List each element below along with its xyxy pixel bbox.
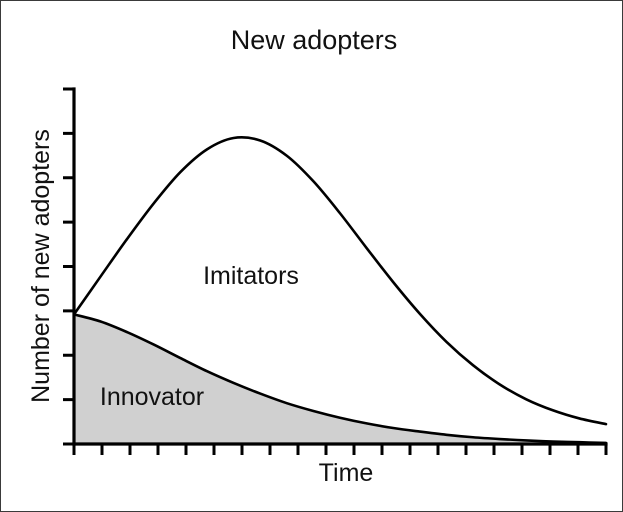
chart-title: New adopters <box>231 25 398 55</box>
x-axis-label: Time <box>319 459 374 487</box>
y-axis-ticks <box>63 89 74 444</box>
chart-figure: New adopters Time Number of new adopters… <box>0 0 623 512</box>
innovator-series-label: Innovator <box>100 383 204 411</box>
x-axis-ticks <box>74 444 606 455</box>
y-axis-label: Number of new adopters <box>27 129 55 403</box>
innovator-area-fill <box>74 314 606 444</box>
imitators-series-label: Imitators <box>203 262 299 290</box>
new-adopters-diffusion-chart: New adopters Time Number of new adopters… <box>1 1 623 512</box>
